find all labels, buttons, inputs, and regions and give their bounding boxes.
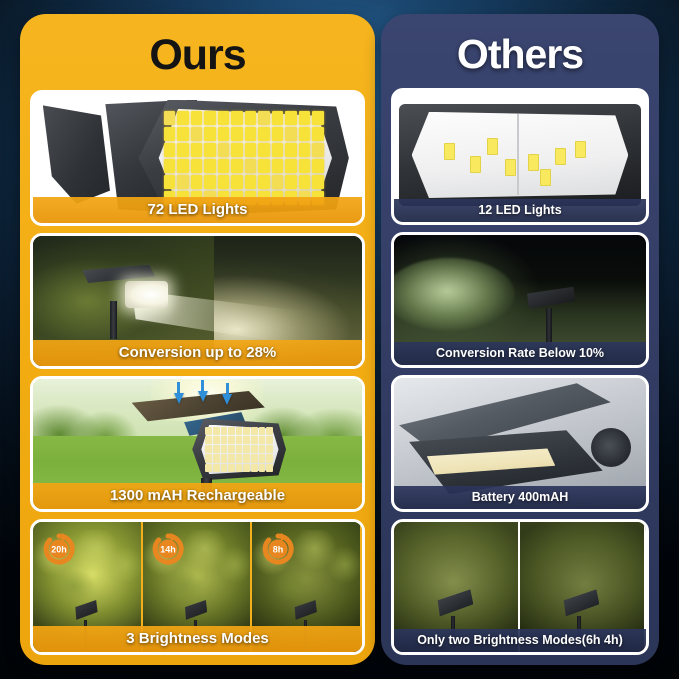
others-led-chip xyxy=(540,169,551,186)
led-chip xyxy=(204,127,216,141)
led-chip xyxy=(164,111,176,125)
led-chip xyxy=(221,436,228,444)
led-chip xyxy=(164,127,176,141)
led-chip xyxy=(213,436,220,444)
led-chip xyxy=(243,464,250,472)
led-chip xyxy=(204,111,216,125)
led-chip xyxy=(204,143,216,157)
runtime-badge-14h: 14h xyxy=(151,532,185,566)
ours-row-led: 72 LED Lights xyxy=(30,90,365,226)
led-chip xyxy=(258,159,270,173)
others-garden-lamp-panel-1 xyxy=(436,589,473,617)
ours-row-conversion: Conversion up to 28% xyxy=(30,233,365,369)
led-chip xyxy=(221,445,228,453)
led-chip xyxy=(236,436,243,444)
ours-caption-battery: 1300 mAH Rechargeable xyxy=(33,483,362,509)
others-title: Others xyxy=(391,22,649,88)
ours-caption-brightness: 3 Brightness Modes xyxy=(33,626,362,652)
led-chip xyxy=(218,175,230,189)
led-chip xyxy=(228,427,235,435)
led-chip xyxy=(236,445,243,453)
solar-light-unit xyxy=(132,384,283,498)
led-chip xyxy=(218,143,230,157)
others-row-brightness: Only two Brightness Modes(6h 4h) xyxy=(391,519,649,656)
others-row-conversion: Conversion Rate Below 10% xyxy=(391,232,649,369)
others-reflector-divider xyxy=(517,114,519,195)
ours-rows: 72 LED Lights Conversion up to 28% xyxy=(30,90,365,655)
led-chip xyxy=(258,175,270,189)
ours-row-battery: 1300 mAH Rechargeable xyxy=(30,376,365,512)
led-chip xyxy=(213,445,220,453)
led-chip xyxy=(266,436,273,444)
comparison-stage: Ours 72 LED Lights xyxy=(20,14,659,665)
led-chip xyxy=(272,143,284,157)
others-card: Others 12 LED Lights xyxy=(381,14,659,665)
led-chip xyxy=(177,111,189,125)
led-chip xyxy=(164,175,176,189)
others-led-chip xyxy=(505,159,516,176)
runtime-badge-label-8h: 8h xyxy=(273,545,284,555)
garden-lamp-panel-3 xyxy=(293,600,317,621)
led-chip xyxy=(218,127,230,141)
runtime-badge-8h: 8h xyxy=(261,532,295,566)
led-chip xyxy=(312,143,324,157)
led-chip xyxy=(228,464,235,472)
others-led-chip xyxy=(555,148,566,165)
led-chip xyxy=(228,454,235,462)
led-chip xyxy=(205,454,212,462)
led-chip xyxy=(266,454,273,462)
led-chip xyxy=(251,436,258,444)
others-row-led: 12 LED Lights xyxy=(391,88,649,225)
led-chip xyxy=(299,111,311,125)
led-chip xyxy=(285,111,297,125)
led-chip xyxy=(245,127,257,141)
others-rows: 12 LED Lights Conversion Rate Below 10% xyxy=(391,88,649,655)
led-chip xyxy=(205,436,212,444)
ours-caption-led: 72 LED Lights xyxy=(33,197,362,223)
led-chip xyxy=(258,143,270,157)
led-chip xyxy=(285,143,297,157)
led-chip xyxy=(177,127,189,141)
solar-lamp-head xyxy=(192,419,286,481)
led-chip xyxy=(221,454,228,462)
dim-lamp-panel xyxy=(525,287,575,310)
ours-row-brightness: 20h 1 xyxy=(30,519,365,655)
led-chip xyxy=(228,436,235,444)
led-chip xyxy=(231,175,243,189)
led-chip xyxy=(251,445,258,453)
others-caption-led: 12 LED Lights xyxy=(394,199,646,222)
others-garden-lamp-panel-2 xyxy=(562,589,599,617)
led-chip xyxy=(205,445,212,453)
ours-caption-conversion: Conversion up to 28% xyxy=(33,340,362,366)
led-chip xyxy=(251,464,258,472)
sun-ray-arrow-icon-1 xyxy=(174,393,184,404)
led-chip xyxy=(285,159,297,173)
housing-mount-knob xyxy=(591,428,631,467)
others-led-chip xyxy=(528,154,539,171)
led-chip xyxy=(266,445,273,453)
led-chip xyxy=(312,127,324,141)
led-chip xyxy=(259,427,266,435)
led-chip xyxy=(177,143,189,157)
others-caption-battery: Battery 400mAH xyxy=(394,486,646,509)
led-chip xyxy=(243,454,250,462)
sun-ray-arrow-icon-3 xyxy=(222,394,232,405)
led-chip xyxy=(177,159,189,173)
led-chip xyxy=(204,159,216,173)
led-chip xyxy=(245,159,257,173)
led-chip xyxy=(272,127,284,141)
led-chip xyxy=(236,454,243,462)
led-chip xyxy=(218,111,230,125)
led-chip xyxy=(299,143,311,157)
led-chip xyxy=(259,436,266,444)
led-chip xyxy=(312,159,324,173)
led-chip xyxy=(236,427,243,435)
garden-lamp-panel-1 xyxy=(74,600,98,621)
led-chip xyxy=(259,464,266,472)
led-chip xyxy=(272,111,284,125)
led-chip xyxy=(231,143,243,157)
led-chip xyxy=(312,175,324,189)
led-chip xyxy=(243,427,250,435)
led-chip xyxy=(259,454,266,462)
led-chip xyxy=(272,159,284,173)
led-chip xyxy=(251,427,258,435)
led-chip xyxy=(245,143,257,157)
others-led-chip xyxy=(575,141,586,158)
spotlight-lamp-head xyxy=(125,281,168,308)
led-chip xyxy=(299,175,311,189)
led-chip xyxy=(213,427,220,435)
led-chip xyxy=(312,111,324,125)
others-row-battery: Battery 400mAH xyxy=(391,375,649,512)
led-chip xyxy=(266,427,273,435)
led-chip xyxy=(231,127,243,141)
led-chip xyxy=(213,464,220,472)
led-chip xyxy=(164,159,176,173)
led-chip xyxy=(231,111,243,125)
runtime-badge-label-20h: 20h xyxy=(51,545,67,555)
led-chip xyxy=(213,454,220,462)
led-chip xyxy=(245,111,257,125)
led-chip xyxy=(243,445,250,453)
led-chip xyxy=(164,143,176,157)
led-chip xyxy=(204,175,216,189)
solar-led-grid xyxy=(205,427,273,471)
led-chip xyxy=(285,175,297,189)
spotlight-stake xyxy=(110,301,118,340)
led-chip xyxy=(191,111,203,125)
sun-ray-arrow-icon-2 xyxy=(198,391,208,402)
led-chip xyxy=(272,175,284,189)
others-caption-brightness: Only two Brightness Modes(6h 4h) xyxy=(394,629,646,652)
led-chip xyxy=(259,445,266,453)
led-chip xyxy=(221,427,228,435)
spotlight-fixture xyxy=(82,265,168,327)
led-chip xyxy=(191,159,203,173)
led-chip xyxy=(245,175,257,189)
led-chip xyxy=(236,464,243,472)
led-chip xyxy=(205,464,212,472)
led-chip xyxy=(205,427,212,435)
others-caption-conversion: Conversion Rate Below 10% xyxy=(394,342,646,365)
led-chip xyxy=(228,445,235,453)
runtime-badge-20h: 20h xyxy=(42,532,76,566)
led-chip xyxy=(177,175,189,189)
runtime-badge-label-14h: 14h xyxy=(161,545,177,555)
others-led-chip xyxy=(470,156,481,173)
others-led-chip xyxy=(444,143,455,160)
led-chip xyxy=(258,127,270,141)
ours-title: Ours xyxy=(30,22,365,90)
others-led-chip xyxy=(487,138,498,155)
ours-card: Ours 72 LED Lights xyxy=(20,14,375,665)
led-chip xyxy=(218,159,230,173)
garden-lamp-panel-2 xyxy=(184,600,208,621)
led-chip xyxy=(191,127,203,141)
led-chip xyxy=(299,159,311,173)
led-chip xyxy=(266,464,273,472)
led-chip xyxy=(251,454,258,462)
led-chip-grid xyxy=(164,111,324,205)
led-chip xyxy=(243,436,250,444)
led-chip xyxy=(231,159,243,173)
led-chip xyxy=(299,127,311,141)
led-chip xyxy=(191,143,203,157)
led-chip xyxy=(221,464,228,472)
led-chip xyxy=(285,127,297,141)
led-chip xyxy=(258,111,270,125)
led-chip xyxy=(191,175,203,189)
